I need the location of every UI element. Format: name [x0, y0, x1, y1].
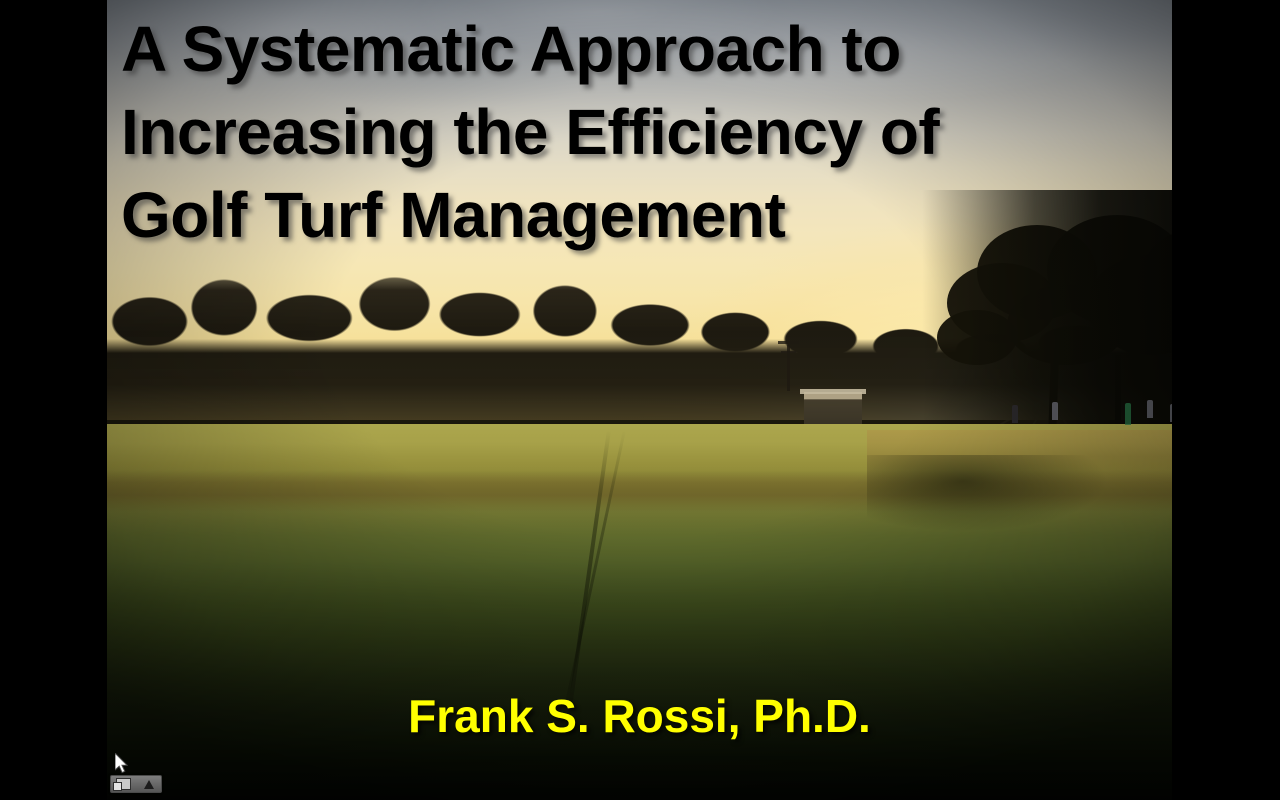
person-silhouette: [1012, 405, 1018, 423]
slideshow-screen: A Systematic Approach to Increasing the …: [0, 0, 1280, 800]
person-silhouette: [1052, 402, 1058, 420]
person-silhouette: [1125, 403, 1131, 425]
popup-menu-button[interactable]: [140, 778, 158, 791]
slide-title: A Systematic Approach to Increasing the …: [121, 8, 1121, 257]
weather-station-tower: [787, 345, 790, 391]
letterbox-bar-left: [0, 0, 107, 800]
triangle-up-icon: [144, 780, 154, 789]
title-line-1: A Systematic Approach to: [121, 8, 1121, 91]
slide-icon: [116, 778, 131, 790]
presenter-name: Frank S. Rossi, Ph.D.: [107, 688, 1172, 744]
slideshow-control-bar[interactable]: [110, 775, 162, 793]
slide[interactable]: A Systematic Approach to Increasing the …: [107, 0, 1172, 800]
maintenance-building: [804, 392, 862, 424]
title-line-3: Golf Turf Management: [121, 174, 1121, 257]
tree-shadow: [867, 455, 1172, 585]
letterbox-bar-right: [1172, 0, 1280, 800]
person-silhouette: [1147, 400, 1153, 418]
slide-menu-button[interactable]: [115, 778, 133, 791]
title-line-2: Increasing the Efficiency of: [121, 91, 1121, 174]
